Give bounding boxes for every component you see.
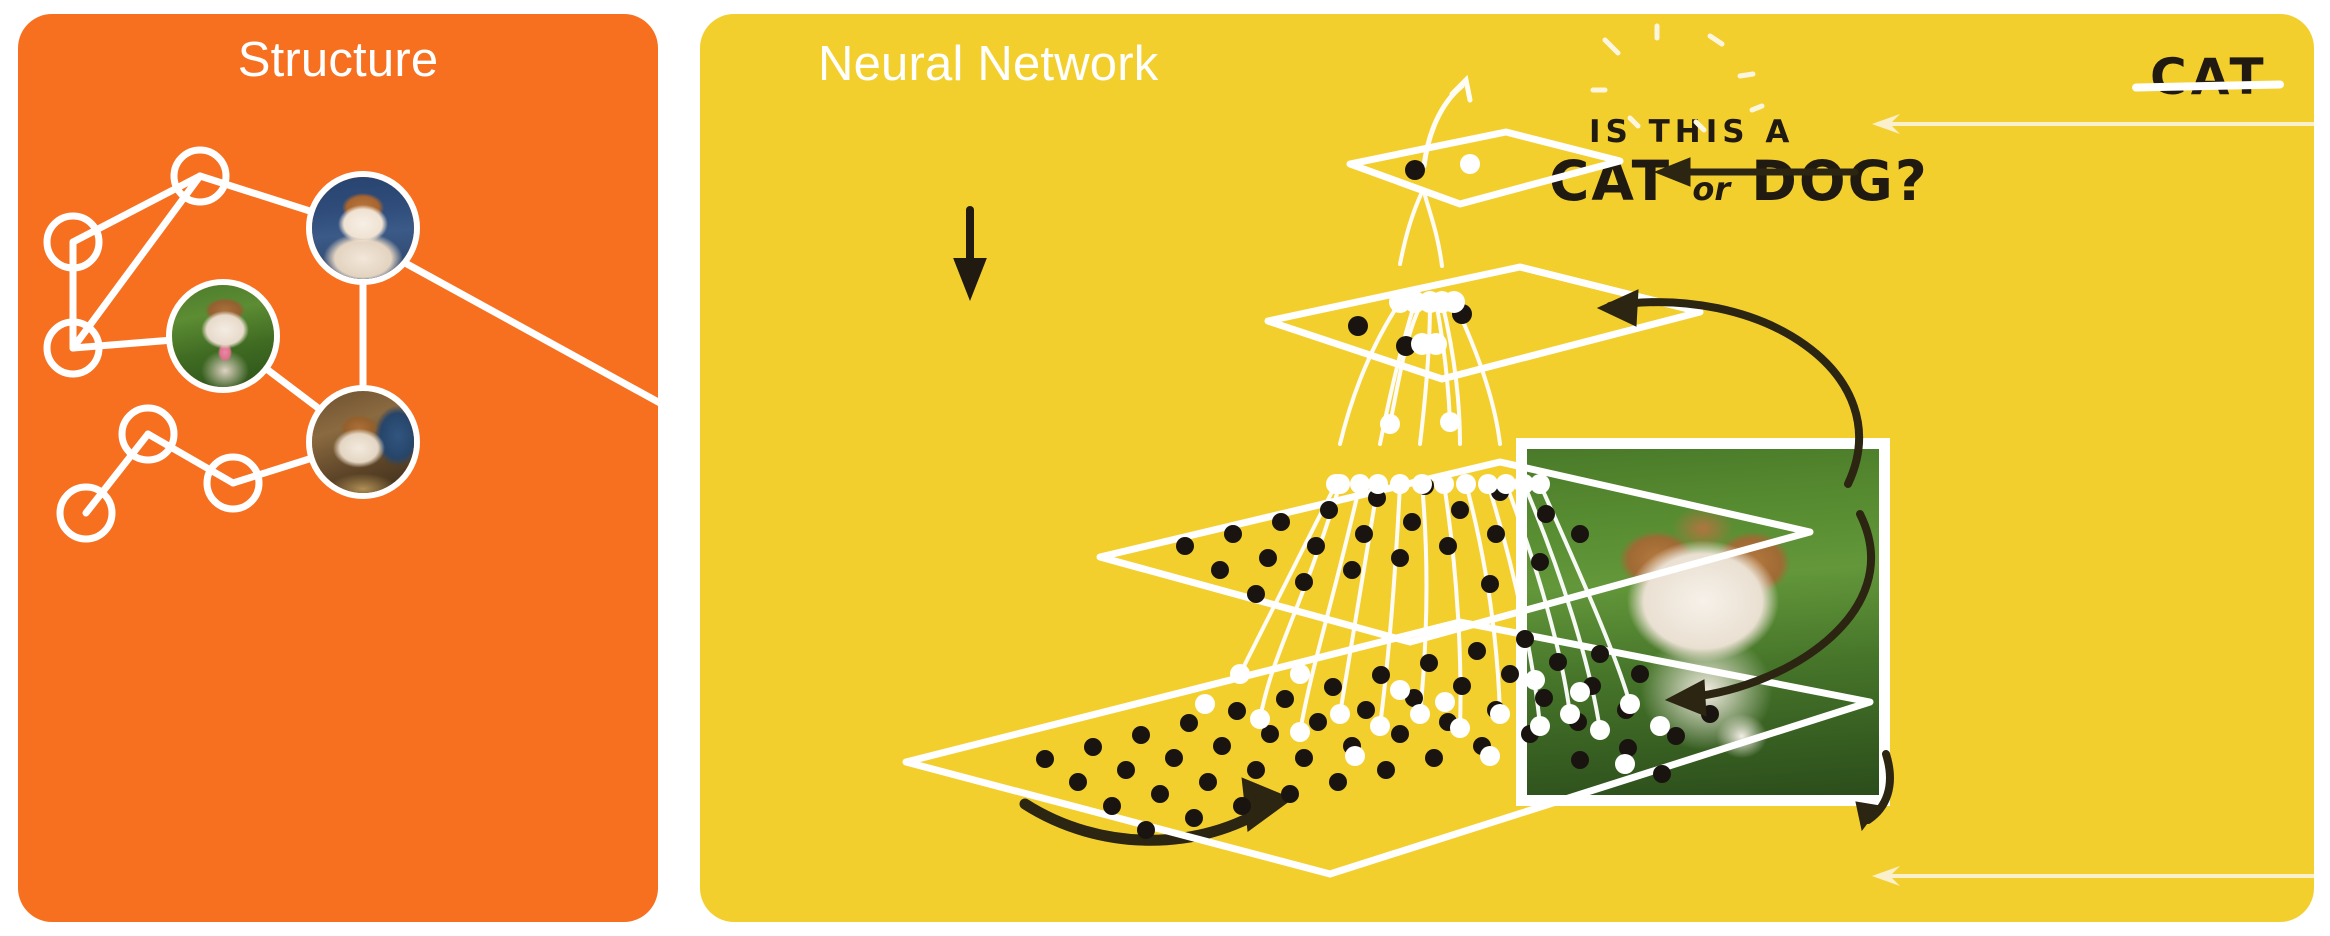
graph-node xyxy=(174,150,226,202)
question-dog: DOG xyxy=(1751,149,1895,213)
hidden-layer-2-neurons xyxy=(1348,291,1472,356)
graph-photo-node-bulldog-standing[interactable] xyxy=(306,385,420,499)
dog-sparkles xyxy=(700,14,2314,922)
graph-node xyxy=(47,216,99,268)
question-or: or xyxy=(1692,170,1730,208)
bulldog-puppy-photo xyxy=(1527,449,1879,795)
graph-photo-node-bulldog-grass[interactable] xyxy=(166,279,280,393)
verdict-cat-label: CAT xyxy=(2150,48,2268,106)
bracket-arrowheads xyxy=(1872,114,2314,886)
graph-node xyxy=(207,457,259,509)
graph-node xyxy=(122,408,174,460)
graph-node xyxy=(60,487,112,539)
bulldog-standing-image xyxy=(312,391,414,493)
question-to-photo-arrow xyxy=(700,14,2314,922)
hidden-layer-2-plane xyxy=(1268,267,1700,379)
screenshot-root: Structure xyxy=(0,0,2330,936)
deep-network-bracket xyxy=(1878,124,2314,876)
input-photo-frame[interactable] xyxy=(1516,438,1890,806)
graph-photo-node-bulldog-couch[interactable] xyxy=(306,171,420,285)
question-line-2: CAT or DOG? xyxy=(1549,149,1929,213)
bulldog-on-grass-image xyxy=(172,285,274,387)
structure-panel: Structure xyxy=(18,14,658,922)
neural-network-layer-diagram xyxy=(700,14,2314,922)
neural-network-panel-title: Neural Network xyxy=(818,40,1158,89)
output-layer-neurons xyxy=(1405,154,1480,180)
structure-panel-title: Structure xyxy=(18,36,658,85)
question-cat: CAT xyxy=(1549,149,1671,213)
neural-network-panel: Neural Network IS THIS A CAT or DOG? CAT… xyxy=(700,14,2314,922)
bulldog-on-couch-image xyxy=(312,177,414,279)
question-line-1: IS THIS A xyxy=(1589,114,1794,150)
graph-node xyxy=(47,322,99,374)
question-mark: ? xyxy=(1895,149,1929,213)
